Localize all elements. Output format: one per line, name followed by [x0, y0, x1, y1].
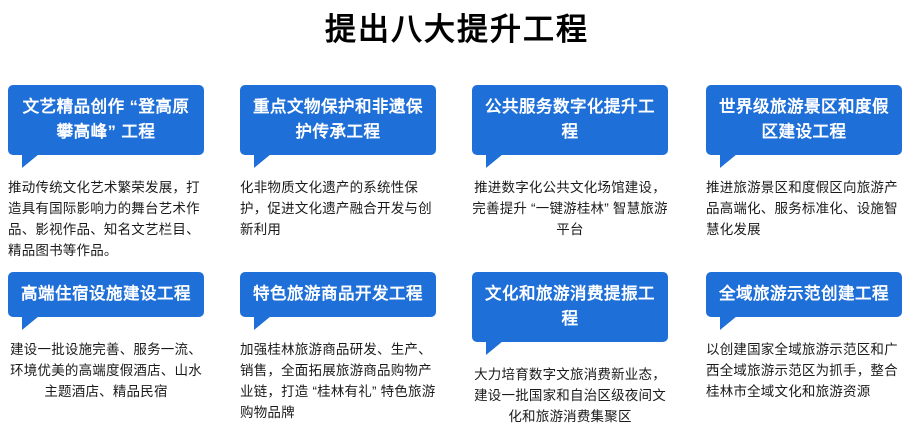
- card-4: 世界级旅游景区和度假区建设工程 推进旅游景区和度假区向旅游产品高端化、服务标准化…: [706, 85, 902, 240]
- card-7-description: 大力培育数字文旅消费新业态，建设一批国家和自治区级夜间文化和旅游消费集聚区: [472, 364, 668, 427]
- card-7-heading: 文化和旅游消费提振工程: [485, 285, 655, 328]
- card-3-heading: 公共服务数字化提升工程: [485, 98, 655, 141]
- card-6: 特色旅游商品开发工程 加强桂林旅游商品研发、生产、销售，全面拓展旅游商品购物产业…: [240, 272, 436, 423]
- card-4-description: 推进旅游景区和度假区向旅游产品高端化、服务标准化、设施智慧化发展: [706, 177, 902, 240]
- card-1-heading-bubble: 文艺精品创作 “登高原攀高峰” 工程: [8, 85, 204, 155]
- card-4-heading: 世界级旅游景区和度假区建设工程: [719, 98, 889, 141]
- bubble-tail-icon: [254, 316, 271, 330]
- card-1-description: 推动传统文化艺术繁荣发展，打造具有国际影响力的舞台艺术作品、影视作品、知名文艺栏…: [8, 177, 204, 261]
- card-5-heading-bubble: 高端住宿设施建设工程: [8, 272, 204, 317]
- bubble-tail-icon: [22, 316, 39, 330]
- bubble-tail-icon: [486, 341, 503, 355]
- card-5-description: 建设一批设施完善、服务一流、环境优美的高端度假酒店、山水主题酒店、精品民宿: [8, 339, 204, 402]
- card-8-heading-bubble: 全域旅游示范创建工程: [706, 272, 902, 317]
- bubble-tail-icon: [720, 316, 737, 330]
- page-title: 提出八大提升工程: [0, 10, 914, 50]
- card-2-heading-bubble: 重点文物保护和非遗保护传承工程: [240, 85, 436, 155]
- card-2: 重点文物保护和非遗保护传承工程 化非物质文化遗产的系统性保护，促进文化遗产融合开…: [240, 85, 436, 240]
- card-1: 文艺精品创作 “登高原攀高峰” 工程 推动传统文化艺术繁荣发展，打造具有国际影响…: [8, 85, 204, 261]
- card-6-heading-bubble: 特色旅游商品开发工程: [240, 272, 436, 317]
- card-3-heading-bubble: 公共服务数字化提升工程: [472, 85, 668, 155]
- card-1-heading: 文艺精品创作 “登高原攀高峰” 工程: [23, 98, 190, 141]
- card-7-heading-bubble: 文化和旅游消费提振工程: [472, 272, 668, 342]
- card-5: 高端住宿设施建设工程 建设一批设施完善、服务一流、环境优美的高端度假酒店、山水主…: [8, 272, 204, 402]
- card-8-description: 以创建国家全域旅游示范区和广西全域旅游示范区为抓手，整合桂林市全域文化和旅游资源: [706, 339, 902, 402]
- card-7: 文化和旅游消费提振工程 大力培育数字文旅消费新业态，建设一批国家和自治区级夜间文…: [472, 272, 668, 427]
- card-8: 全域旅游示范创建工程 以创建国家全域旅游示范区和广西全域旅游示范区为抓手，整合桂…: [706, 272, 902, 402]
- bubble-tail-icon: [486, 154, 503, 168]
- card-6-description: 加强桂林旅游商品研发、生产、销售，全面拓展旅游商品购物产业链，打造 “桂林有礼”…: [240, 339, 436, 423]
- card-8-heading: 全域旅游示范创建工程: [719, 285, 889, 303]
- card-3: 公共服务数字化提升工程 推进数字化公共文化场馆建设，完善提升 “一键游桂林” 智…: [472, 85, 668, 240]
- bubble-tail-icon: [254, 154, 271, 168]
- card-4-heading-bubble: 世界级旅游景区和度假区建设工程: [706, 85, 902, 155]
- card-5-heading: 高端住宿设施建设工程: [21, 285, 191, 303]
- card-6-heading: 特色旅游商品开发工程: [253, 285, 423, 303]
- card-2-description: 化非物质文化遗产的系统性保护，促进文化遗产融合开发与创新利用: [240, 177, 436, 240]
- diagram-canvas: 提出八大提升工程 文艺精品创作 “登高原攀高峰” 工程 推动传统文化艺术繁荣发展…: [0, 0, 914, 439]
- card-3-description: 推进数字化公共文化场馆建设，完善提升 “一键游桂林” 智慧旅游平台: [472, 177, 668, 240]
- bubble-tail-icon: [720, 154, 737, 168]
- card-2-heading: 重点文物保护和非遗保护传承工程: [253, 98, 423, 141]
- bubble-tail-icon: [22, 154, 39, 168]
